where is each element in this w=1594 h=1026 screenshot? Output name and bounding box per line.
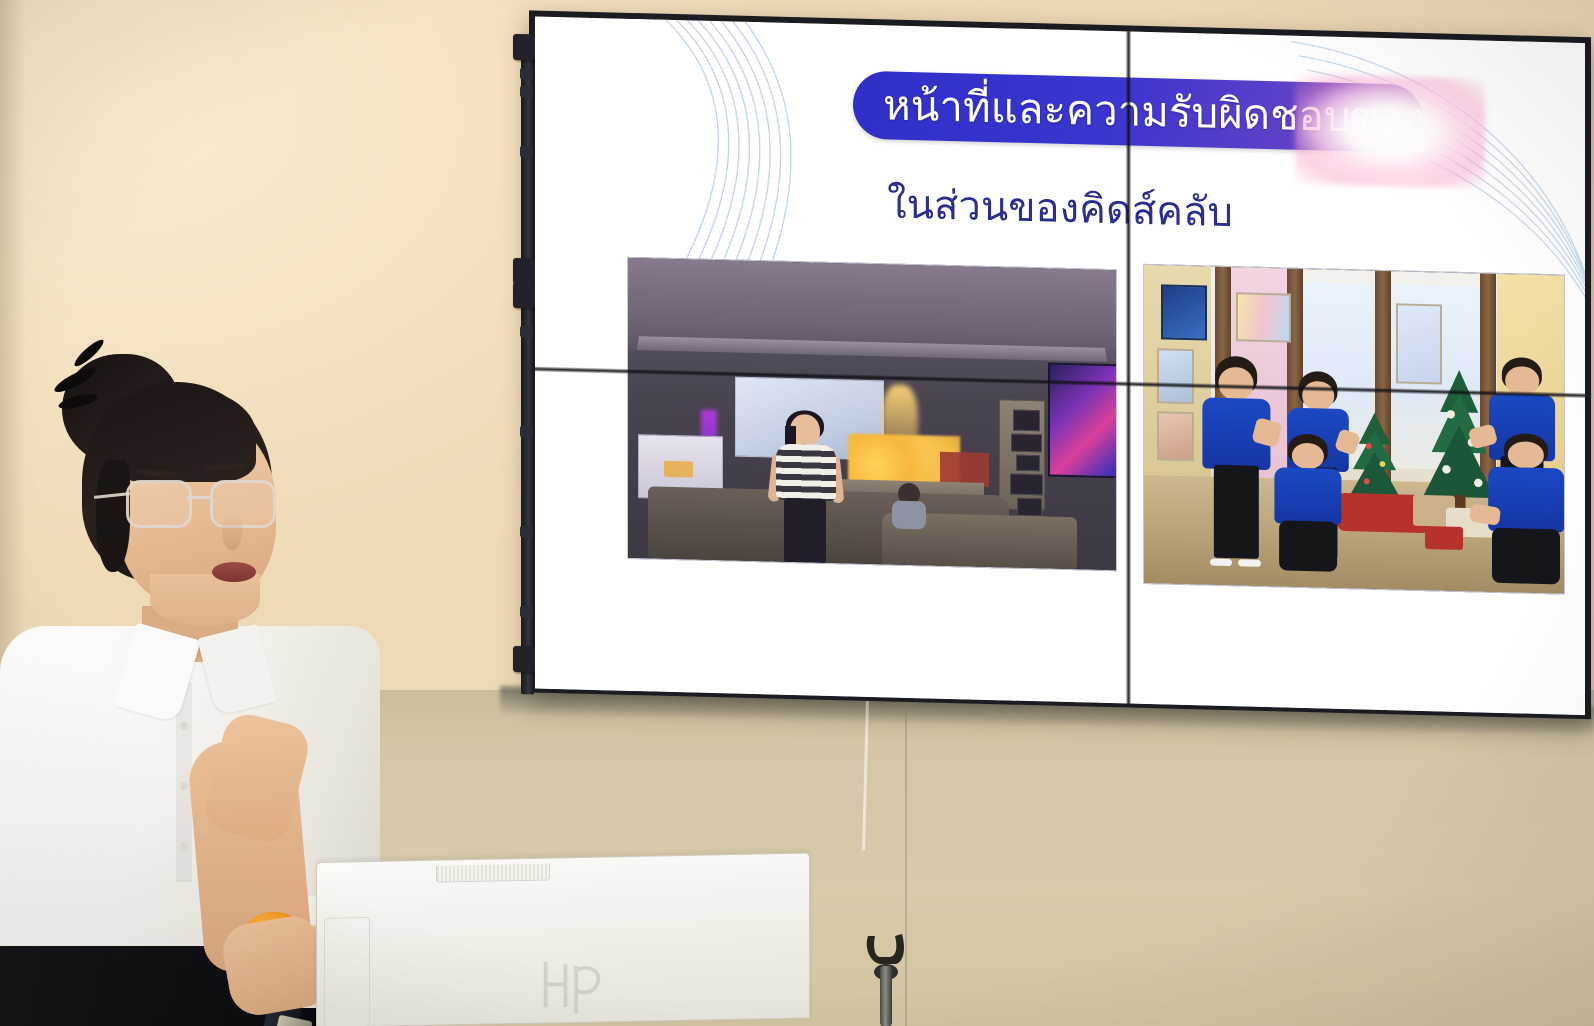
slide-photo-lounge bbox=[627, 257, 1117, 571]
wall-mount-bracket bbox=[520, 68, 533, 79]
video-wall[interactable]: หน้าที่และความรับผิดชอบของ ในส่วนของคิดส… bbox=[515, 6, 1594, 733]
glasses-lens-left bbox=[126, 480, 192, 528]
kids-poster-d bbox=[1236, 293, 1290, 343]
lounge-photo-gallery bbox=[1009, 407, 1053, 526]
wall-mount-bracket bbox=[520, 146, 533, 157]
presenter-hand-holding-mic bbox=[219, 912, 330, 1019]
shirt-button bbox=[180, 782, 188, 790]
hp-logo-icon bbox=[532, 952, 608, 1015]
hp-all-in-one-monitor[interactable] bbox=[316, 853, 808, 1026]
kids-poster-b bbox=[1157, 412, 1195, 461]
monitor-port-recess bbox=[324, 917, 370, 1026]
glasses-bridge bbox=[186, 496, 210, 499]
lounge-seated-person bbox=[892, 483, 926, 528]
mic-stand-pole bbox=[880, 966, 892, 1026]
slide-subtitle: ในส่วนของคิดส์คลับ bbox=[535, 163, 1585, 254]
monitor-vent bbox=[436, 864, 550, 883]
wall-mount-bracket bbox=[520, 526, 533, 537]
presenter-chin bbox=[150, 574, 260, 626]
kids-staff-5-crouching bbox=[1488, 433, 1564, 588]
kids-poster-a bbox=[1157, 348, 1195, 404]
video-wall-screen[interactable]: หน้าที่และความรับผิดชอบของ ในส่วนของคิดส… bbox=[535, 17, 1585, 716]
presentation-room-photo: หน้าที่และความรับผิดชอบของ ในส่วนของคิดส… bbox=[0, 0, 1594, 1026]
presenter-mouth bbox=[212, 562, 256, 582]
wall-mount-bracket bbox=[520, 86, 533, 97]
slide-title-text: หน้าที่และความรับผิดชอบของ bbox=[883, 84, 1423, 140]
shirt-button bbox=[180, 842, 188, 850]
glasses bbox=[126, 480, 288, 526]
slide-photo-kids-club bbox=[1143, 264, 1565, 595]
kids-staff-3-kneeling bbox=[1274, 434, 1341, 576]
wall-mount-clip bbox=[513, 34, 535, 61]
presenter-nose bbox=[222, 516, 242, 550]
gift-box-c bbox=[1425, 526, 1463, 549]
lounge-scene bbox=[628, 258, 1116, 570]
wall-mount-clip bbox=[513, 282, 535, 309]
video-wall-seam-vertical bbox=[1126, 31, 1131, 703]
presenter-sidelock bbox=[96, 460, 130, 572]
wall-mount-bracket bbox=[520, 606, 533, 617]
kids-club-scene bbox=[1144, 265, 1564, 594]
powerpoint-slide: หน้าที่และความรับผิดชอบของ ในส่วนของคิดส… bbox=[535, 17, 1585, 716]
kids-wall-tv bbox=[1161, 284, 1207, 340]
wall-mount-rail bbox=[521, 34, 534, 694]
wall-mount-clip bbox=[513, 258, 535, 285]
glasses-lens-right bbox=[210, 480, 276, 528]
wall-mount-bracket bbox=[520, 326, 533, 337]
wall-mount-bracket bbox=[520, 426, 533, 437]
slide-title-banner: หน้าที่และความรับผิดชอบของ bbox=[853, 71, 1423, 153]
shirt-button bbox=[180, 722, 188, 730]
microphone-stand[interactable] bbox=[856, 930, 916, 1026]
lounge-standing-woman bbox=[774, 414, 838, 564]
